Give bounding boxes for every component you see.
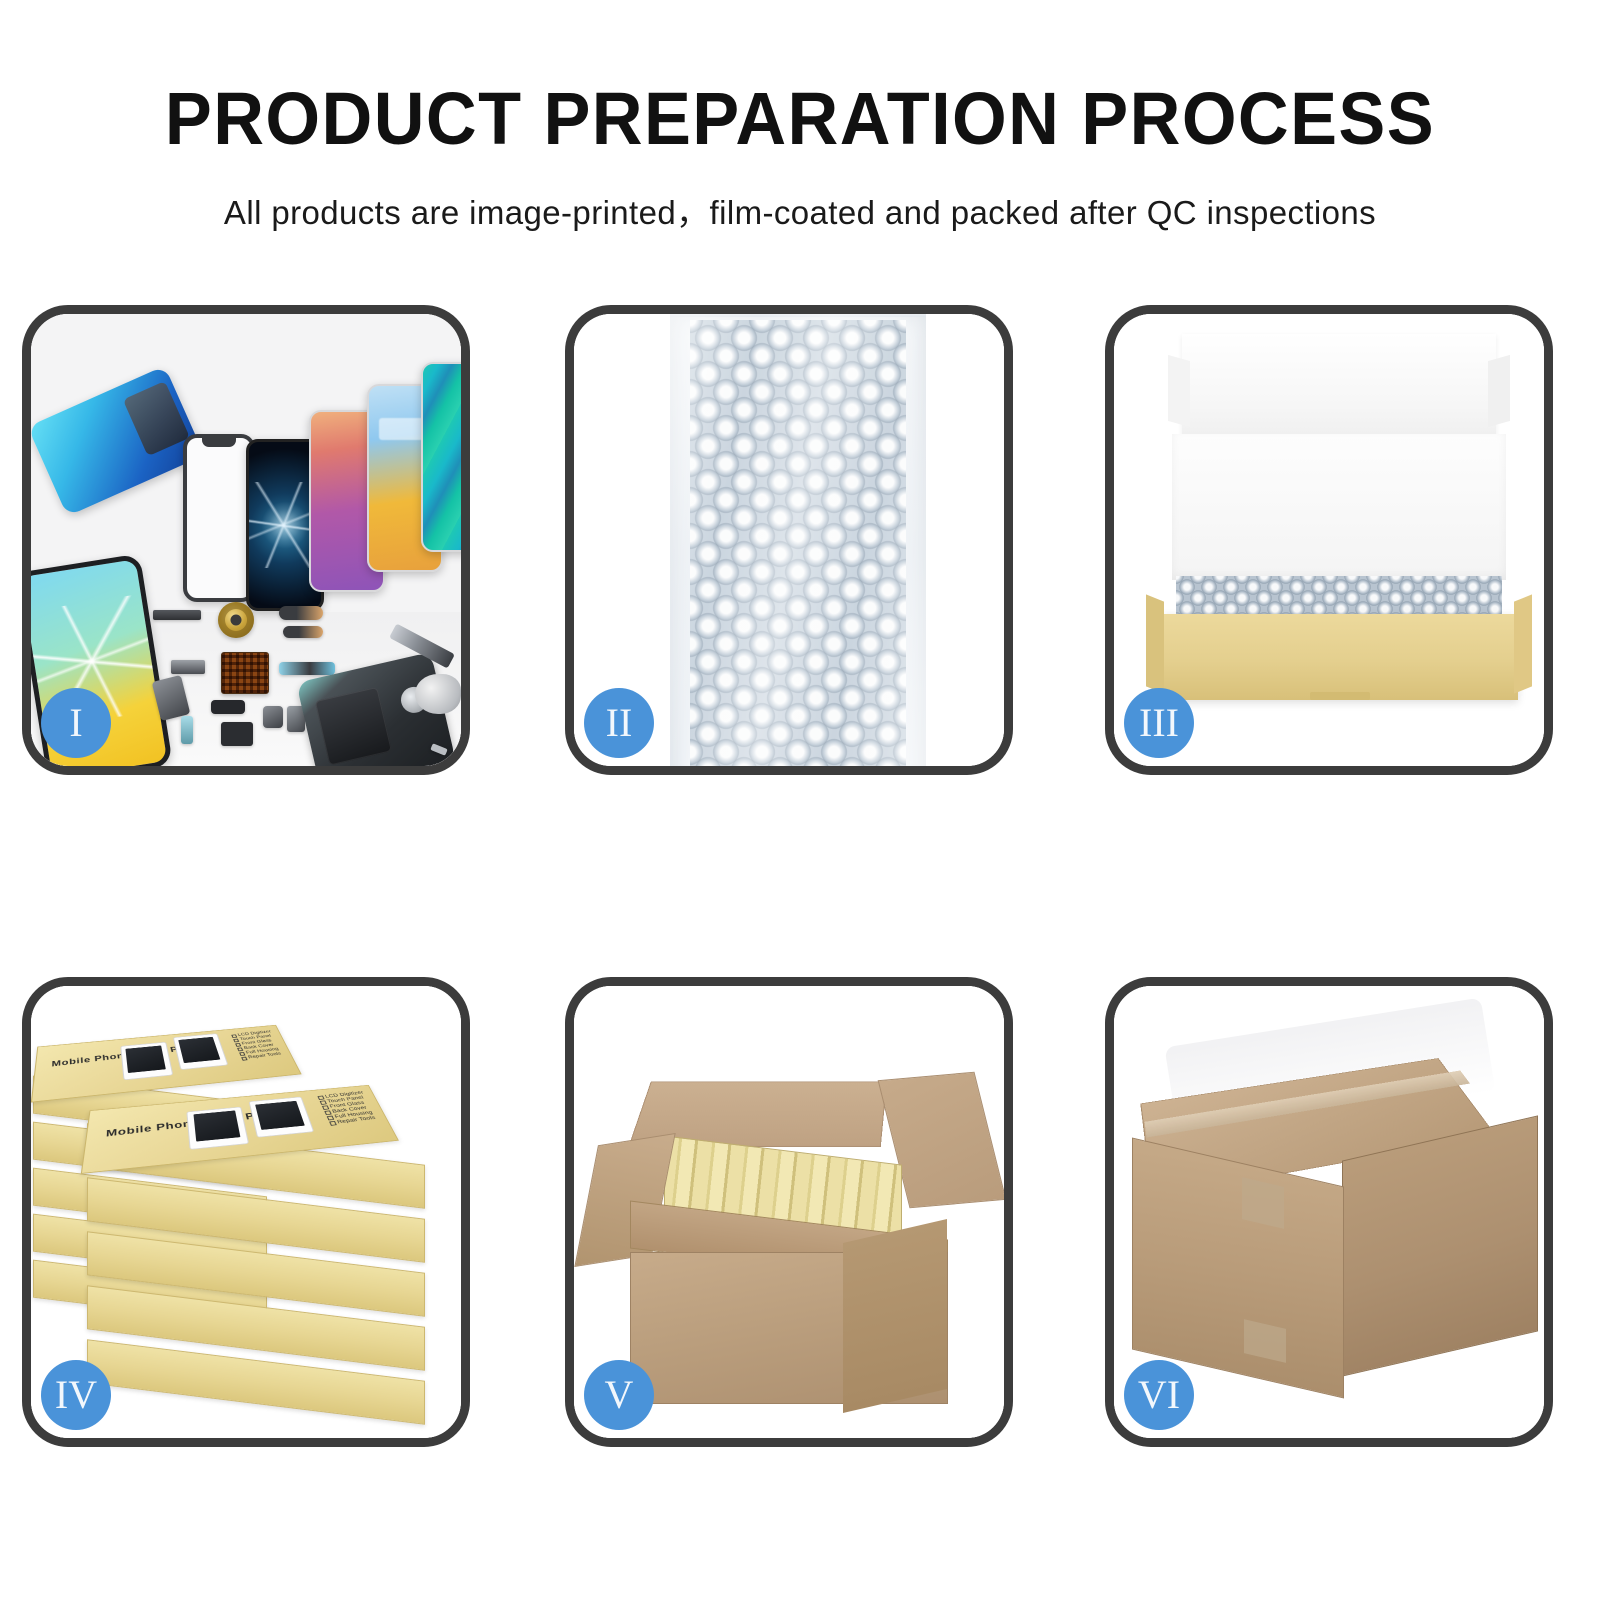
- ic-chip-1: [211, 700, 245, 714]
- retail-box-checklist-top: LCD Digitizer Touch Panel Front Glass Ba…: [231, 1030, 284, 1061]
- box-product-photo-2: [173, 1034, 229, 1071]
- box-product-photo-3: [187, 1107, 249, 1150]
- flex-cable-2: [283, 626, 323, 638]
- front-glass-panel: [183, 434, 255, 602]
- step-panel-3[interactable]: III: [1105, 305, 1553, 775]
- step-panel-2[interactable]: II: [565, 305, 1013, 775]
- header: PRODUCT PREPARATION PROCESS All products…: [0, 0, 1600, 234]
- bubble-wrap-pouch: [670, 314, 926, 766]
- checkbox-icon: [329, 1121, 337, 1126]
- page-subtitle: All products are image-printed，film-coat…: [0, 156, 1600, 234]
- mailer-front-tab: [1310, 692, 1370, 700]
- sealed-carton-side: [1342, 1115, 1538, 1376]
- flex-cable-1: [279, 606, 323, 620]
- step-panel-6[interactable]: VI: [1105, 977, 1553, 1447]
- copper-chip-grid: [221, 652, 269, 694]
- box-product-photo-1: [120, 1042, 173, 1080]
- mailer-inner-wall: [1172, 434, 1506, 580]
- phone-teal-wave: [421, 362, 461, 552]
- box-product-photo-4: [249, 1097, 314, 1138]
- plastic-sheen: [670, 314, 926, 766]
- checkbox-icon: [241, 1057, 247, 1061]
- mailer-base-yellow: [1160, 614, 1518, 700]
- speaker-bar-part: [153, 610, 201, 620]
- step-badge-6: VI: [1124, 1360, 1194, 1430]
- step-badge-5: V: [584, 1360, 654, 1430]
- step-badge-1: I: [41, 688, 111, 758]
- retail-box-checklist-front: LCD Digitizer Touch Panel Front Glass Ba…: [317, 1091, 379, 1126]
- camera-module-part: [263, 706, 283, 728]
- step-panel-1[interactable]: I: [22, 305, 470, 775]
- step-panel-5[interactable]: V: [565, 977, 1013, 1447]
- step-badge-4: IV: [41, 1360, 111, 1430]
- step-panel-4[interactable]: Mobile Phone Spare Parts LCD Digitizer T…: [22, 977, 470, 1447]
- connector-part-1: [171, 660, 205, 674]
- ic-chip-2: [221, 722, 253, 746]
- process-row-top: I II: [22, 305, 1578, 775]
- flex-cable-3: [279, 662, 335, 675]
- page-title: PRODUCT PREPARATION PROCESS: [40, 0, 1560, 156]
- process-row-bottom: Mobile Phone Spare Parts LCD Digitizer T…: [22, 977, 1578, 1447]
- process-grid: I II: [22, 305, 1578, 1447]
- carton-body-open: [630, 1252, 948, 1404]
- cleaning-brush-tool: [415, 674, 461, 714]
- infographic-page: PRODUCT PREPARATION PROCESS All products…: [0, 0, 1600, 1600]
- wireless-charging-coil: [218, 602, 254, 638]
- step-badge-2: II: [584, 688, 654, 758]
- step-badge-3: III: [1124, 688, 1194, 758]
- sim-tray-part: [181, 716, 193, 744]
